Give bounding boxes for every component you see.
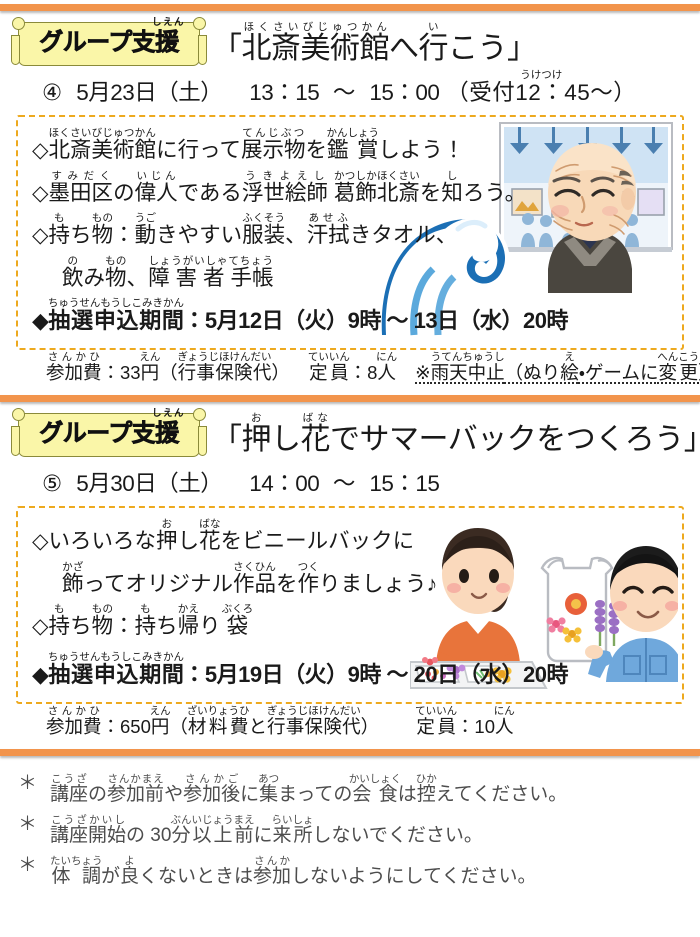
- bottom-divider-bar: [0, 749, 700, 756]
- note-item: ＊ 講座開始こうざかいしの 30分以上前ぶんいじょうまえに来所らいしょしないでく…: [18, 811, 700, 852]
- event-1-fee-line: 参加費さんかひ：33円えん（行事保険代ぎょうじほけんだい）定員ていいん：8人にん…: [6, 350, 694, 391]
- note-text: 講座開始こうざかいしの 30分以上前ぶんいじょうまえに来所らいしょしないでくださ…: [50, 814, 483, 847]
- event-block-1: しえん グループ支援 「北斎美術館ほくさいびじゅつかんへ行いこう」 ④ 5月23…: [0, 11, 700, 391]
- badge-ruby-1: しえん: [152, 14, 185, 28]
- event-1-time-end: 15：00: [369, 80, 439, 105]
- event-2-time-tilde: 〜: [333, 471, 356, 496]
- event-2-detail-2: ◇持もち物もの：持もち帰かえり 袋ぶくろ: [32, 603, 682, 646]
- badge-label-2: グループ支援: [39, 419, 179, 447]
- ribbon-tail-left: [11, 35, 20, 65]
- event-2-fee-line: 参加費さんかひ：650円えん（材料費ざいりょうひと行事保険代ぎょうじほけんだい）…: [6, 704, 694, 745]
- event-2-detail-1: 飾かざってオリジナル作品さくひんを作つくりましょう♪: [32, 561, 682, 604]
- middle-divider-bar: [0, 395, 700, 402]
- note-item: ＊ 講座こうざの参加前さんかまえや参加後さんかごに集あつまっての会食かいしょくは…: [18, 770, 700, 811]
- event-1-number: ④: [42, 80, 63, 105]
- note-text: 体 調たいちょうが良よくないときは参加さんかしないようにしてください。: [50, 855, 537, 888]
- event-1-detail-3: 飲のみ物もの、障 害 者 手帳しょうがいしゃてちょう: [32, 255, 682, 298]
- event-1-title: 「北斎美術館ほくさいびじゅつかんへ行いこう」: [212, 21, 537, 67]
- ribbon-tail-right: [198, 35, 207, 65]
- asterisk-marker: ＊: [18, 773, 37, 796]
- event-2-header: しえん グループ支援 「押おし花ばなでサマーバックをつくろう」: [6, 402, 694, 460]
- event-2-title: 「押おし花ばなでサマーバックをつくろう」: [212, 412, 700, 458]
- event-1-detail-2: ◇持もち物もの：動うごきやすい服装ふくそう、汗拭あせふきタオル、: [32, 212, 682, 255]
- event-1-lottery-period: ◆抽選申込期間ちゅうせんもうしこみきかん：5月12日（火）9時 〜 13日（水）…: [32, 297, 682, 340]
- event-2-lottery-period: ◆抽選申込期間ちゅうせんもうしこみきかん：5月19日（火）9時 〜 20日（水）…: [32, 646, 682, 694]
- event-2-detail-box: ◇いろいろな押おし花ばなをビニールバックに 飾かざってオリジナル作品さくひんを作…: [16, 506, 684, 704]
- event-1-detail-box: ◇北斎美術館ほくさいびじゅつかんに行って展示物てんじぶつを鑑 賞かんしょうしよう…: [16, 115, 684, 350]
- event-1-datetime: ④ 5月23日（土） 13：15 〜 15：00 （受付12：45〜）うけつけ: [6, 69, 694, 115]
- event-2-detail-0: ◇いろいろな押おし花ばなをビニールバックに: [32, 518, 682, 561]
- note-text: 講座こうざの参加前さんかまえや参加後さんかごに集あつまっての会食かいしょくは控ひ…: [50, 773, 567, 806]
- event-1-header: しえん グループ支援 「北斎美術館ほくさいびじゅつかんへ行いこう」: [6, 11, 694, 69]
- badge-label-1: グループ支援: [39, 28, 179, 56]
- event-2-time-start: 14：00: [249, 471, 319, 496]
- event-1-date: 5月23日（土）: [76, 80, 222, 105]
- asterisk-marker: ＊: [18, 814, 37, 837]
- ribbon-tail-left: [11, 426, 20, 456]
- event-1-detail-1: ◇墨田区すみだくの偉人いじんである浮世絵師うきよえし 葛飾北斎かつしかほくさいを…: [32, 170, 682, 213]
- group-support-badge-2: しえん グループ支援: [18, 413, 200, 456]
- event-1-detail-0: ◇北斎美術館ほくさいびじゅつかんに行って展示物てんじぶつを鑑 賞かんしょうしよう…: [32, 127, 682, 170]
- event-2-date: 5月30日（土）: [76, 471, 222, 496]
- footer-notes: ＊ 講座こうざの参加前さんかまえや参加後さんかごに集あつまっての会食かいしょくは…: [0, 756, 700, 893]
- event-1-time-tilde: 〜: [333, 80, 356, 105]
- asterisk-marker: ＊: [18, 855, 37, 878]
- top-divider-bar: [0, 4, 700, 11]
- note-item: ＊ 体 調たいちょうが良よくないときは参加さんかしないようにしてください。: [18, 852, 700, 893]
- event-2-number: ⑤: [42, 471, 63, 496]
- event-2-datetime: ⑤ 5月30日（土） 14：00 〜 15：15: [6, 460, 694, 506]
- event-block-2: しえん グループ支援 「押おし花ばなでサマーバックをつくろう」 ⑤ 5月30日（…: [0, 402, 700, 745]
- event-1-reception: （受付12：45〜）うけつけ: [446, 80, 636, 105]
- ribbon-tail-right: [198, 426, 207, 456]
- group-support-badge-1: しえん グループ支援: [18, 22, 200, 65]
- badge-ruby-2: しえん: [152, 405, 185, 419]
- event-1-time-start: 13：15: [249, 80, 319, 105]
- event-2-time-end: 15：15: [369, 471, 439, 496]
